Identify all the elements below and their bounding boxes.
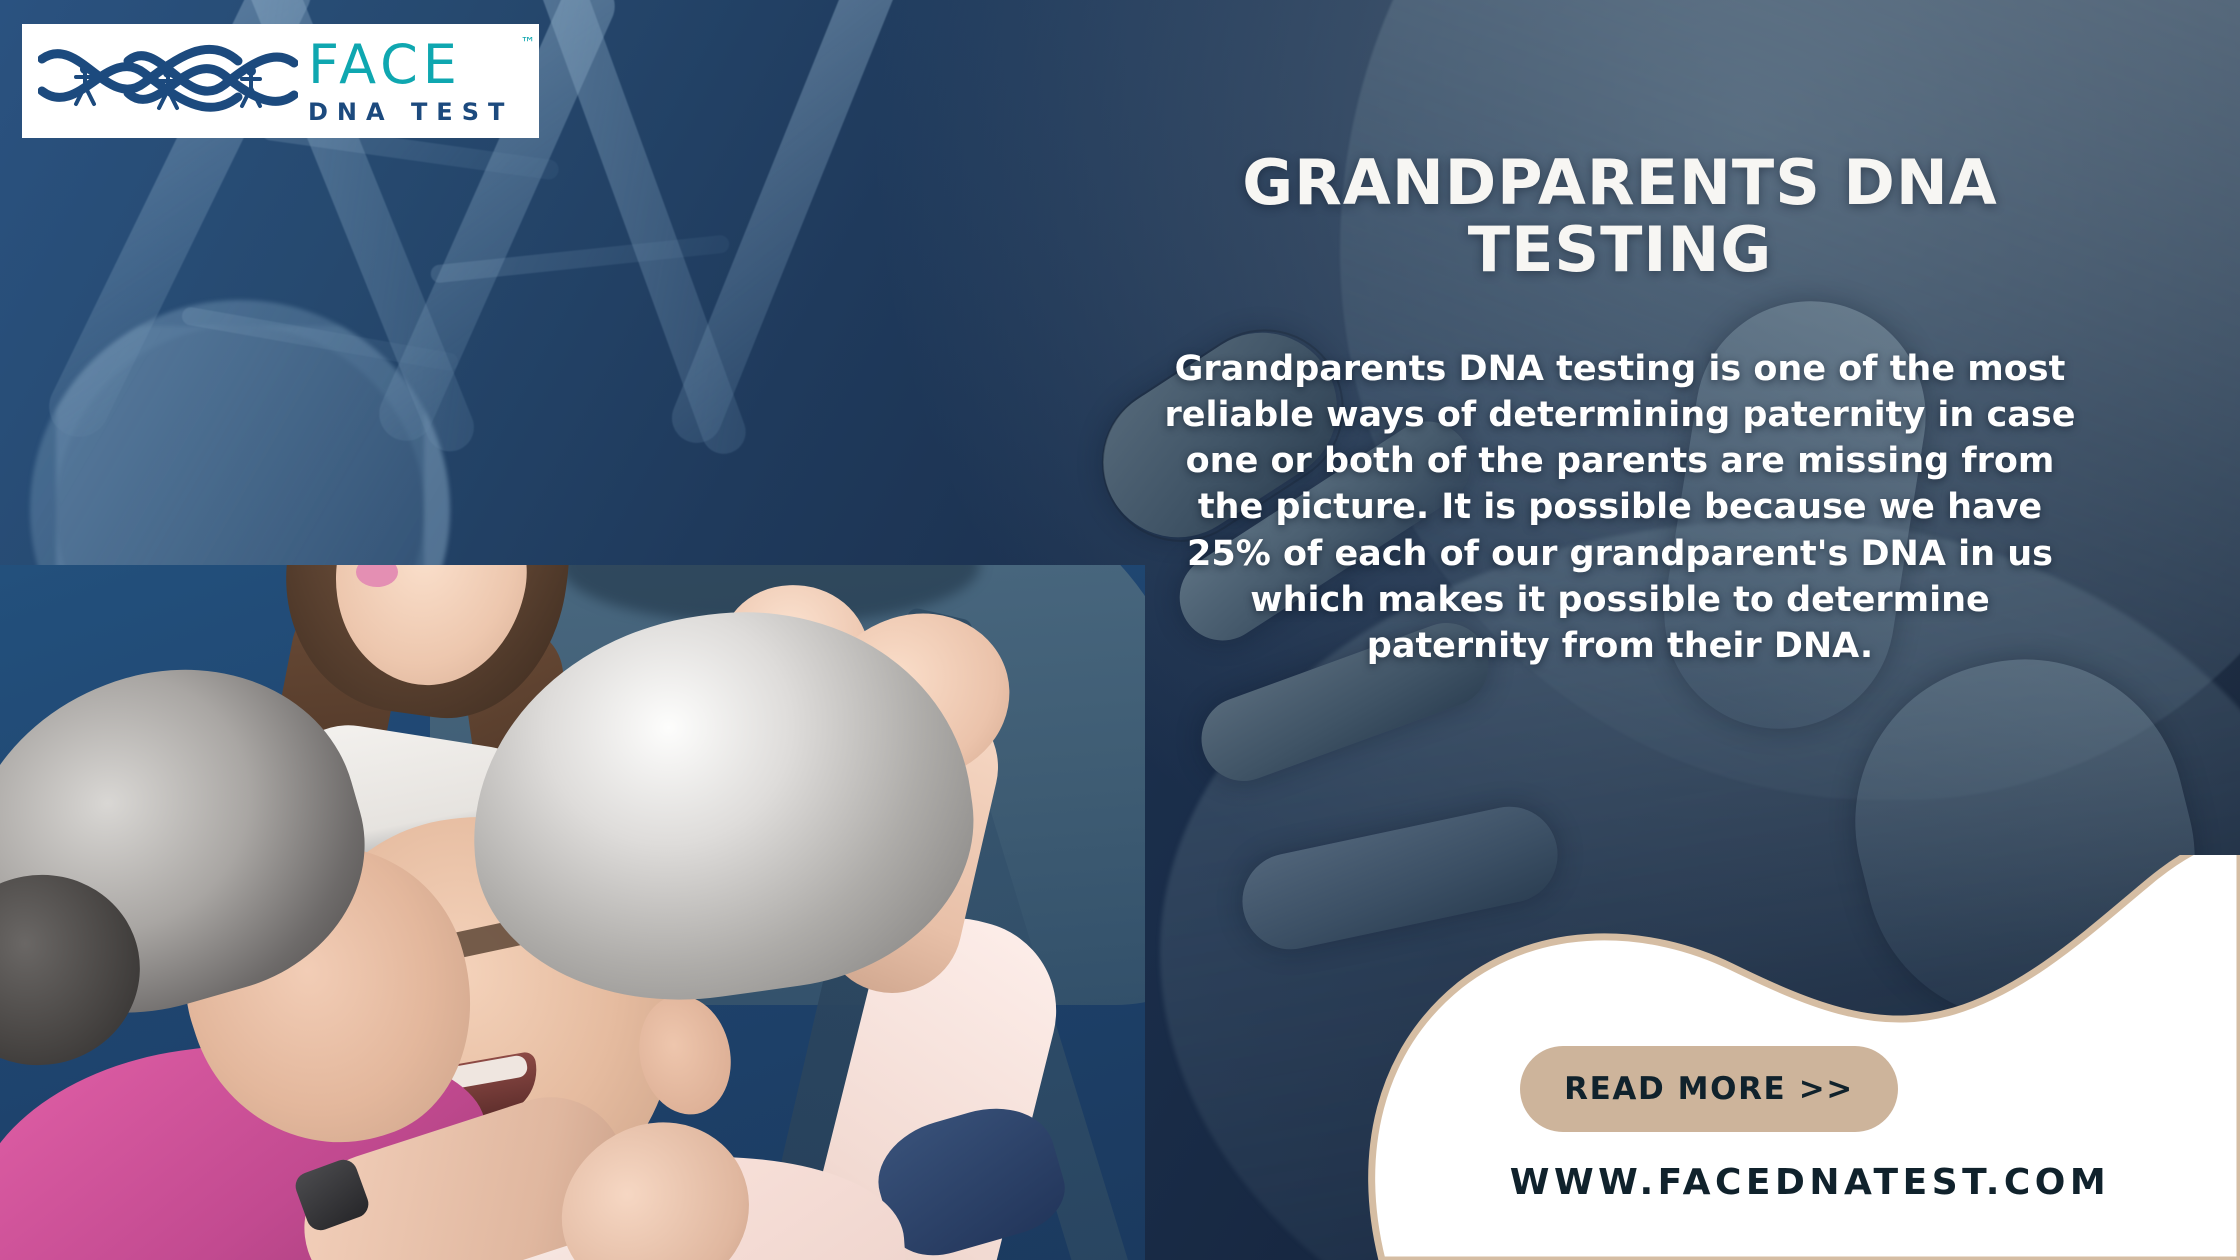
brand-name-text: FACE: [308, 33, 462, 96]
promo-banner: FACE™ DNA TEST GRANDPARENTS DNA TESTING …: [0, 0, 2240, 1260]
dna-double-helix-icon: [38, 39, 298, 123]
family-photo: [0, 565, 1145, 1260]
brand-wordmark: FACE™ DNA TEST: [308, 38, 513, 124]
brand-logo[interactable]: FACE™ DNA TEST: [22, 24, 539, 138]
copy-column: GRANDPARENTS DNA TESTING Grandparents DN…: [1160, 150, 2080, 669]
brand-name-sub: DNA TEST: [308, 100, 513, 124]
page-title: GRANDPARENTS DNA TESTING: [1160, 150, 2080, 284]
body-paragraph: Grandparents DNA testing is one of the m…: [1160, 346, 2080, 669]
read-more-button[interactable]: READ MORE >>: [1520, 1046, 1898, 1132]
trademark-symbol: ™: [520, 36, 535, 51]
website-url[interactable]: WWW.FACEDNATEST.COM: [1450, 1162, 2170, 1203]
brand-name-main: FACE™: [308, 38, 513, 92]
